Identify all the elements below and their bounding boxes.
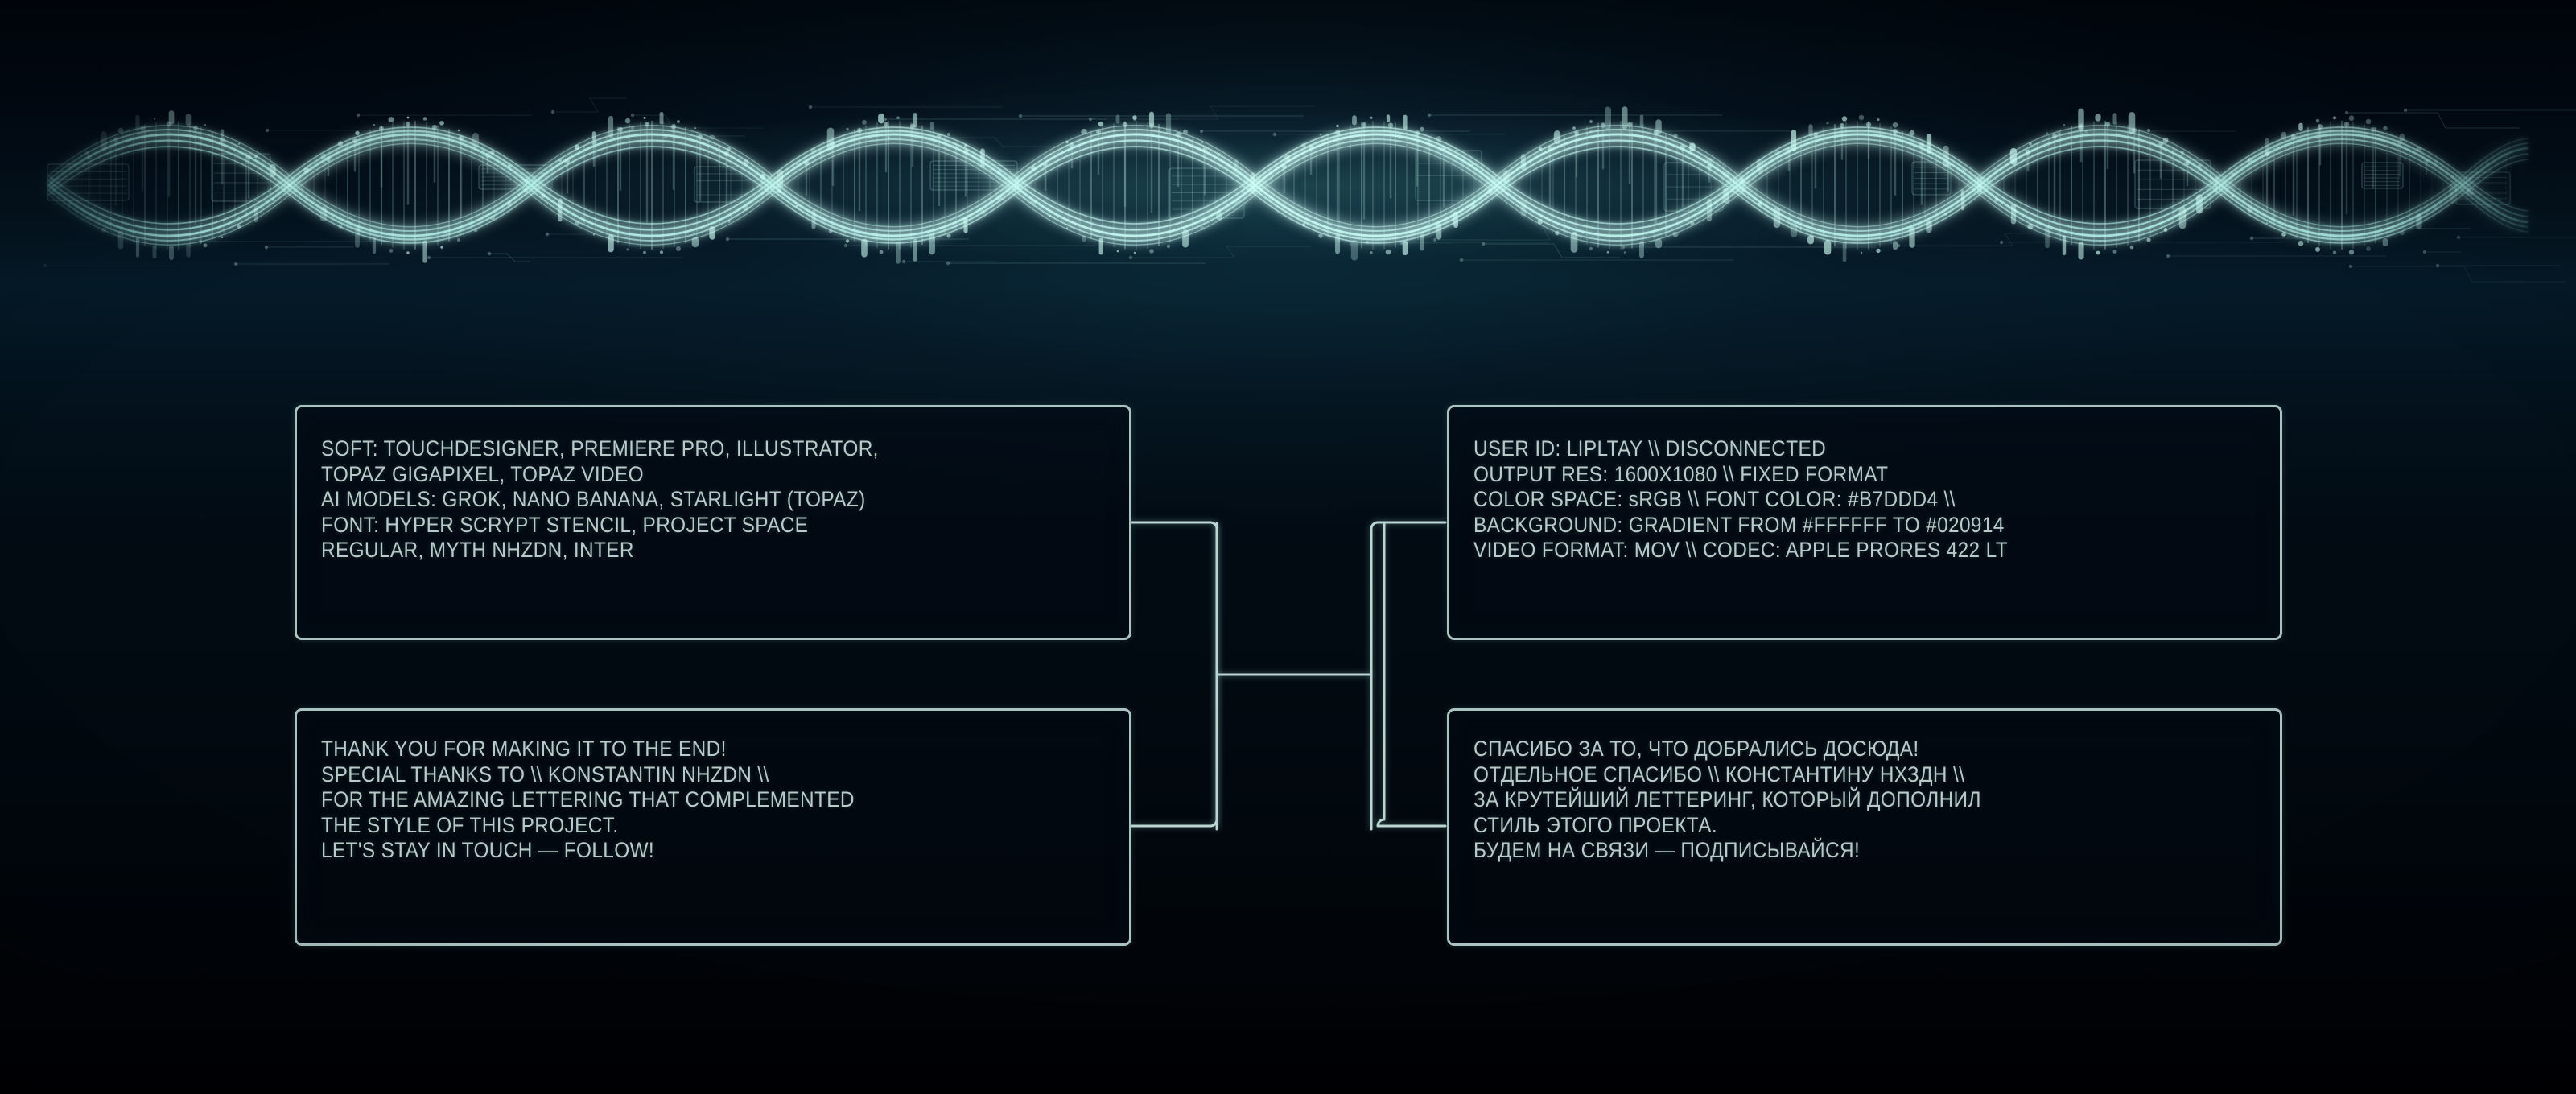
connector-top-right <box>1371 522 1445 829</box>
panel-credits-software-text: SOFT: TOUCHDESIGNER, PREMIERE PRO, ILLUS… <box>321 436 879 564</box>
panel-thanks-russian: СПАСИБО ЗА ТО, ЧТО ДОБРАЛИСЬ ДОСЮДА! ОТД… <box>1447 708 2282 946</box>
panel-technical-specs: USER ID: LIPLTAY \\ DISCONNECTED OUTPUT … <box>1447 405 2282 640</box>
connector-top-left <box>1131 522 1217 829</box>
dna-double-helix-icon <box>0 85 2576 286</box>
panel-credits-software: SOFT: TOUCHDESIGNER, PREMIERE PRO, ILLUS… <box>295 405 1131 640</box>
connector-bottom-right <box>1378 523 1445 826</box>
panel-thanks-russian-text: СПАСИБО ЗА ТО, ЧТО ДОБРАЛИСЬ ДОСЮДА! ОТД… <box>1473 737 1981 864</box>
panel-technical-specs-text: USER ID: LIPLTAY \\ DISCONNECTED OUTPUT … <box>1473 436 2008 564</box>
dna-helix-banner <box>0 85 2576 286</box>
credits-card-stage: SOFT: TOUCHDESIGNER, PREMIERE PRO, ILLUS… <box>0 0 2576 1094</box>
connector-bottom-left <box>1131 523 1217 826</box>
panel-thanks-english: THANK YOU FOR MAKING IT TO THE END! SPEC… <box>295 708 1131 946</box>
panel-thanks-english-text: THANK YOU FOR MAKING IT TO THE END! SPEC… <box>321 737 855 864</box>
